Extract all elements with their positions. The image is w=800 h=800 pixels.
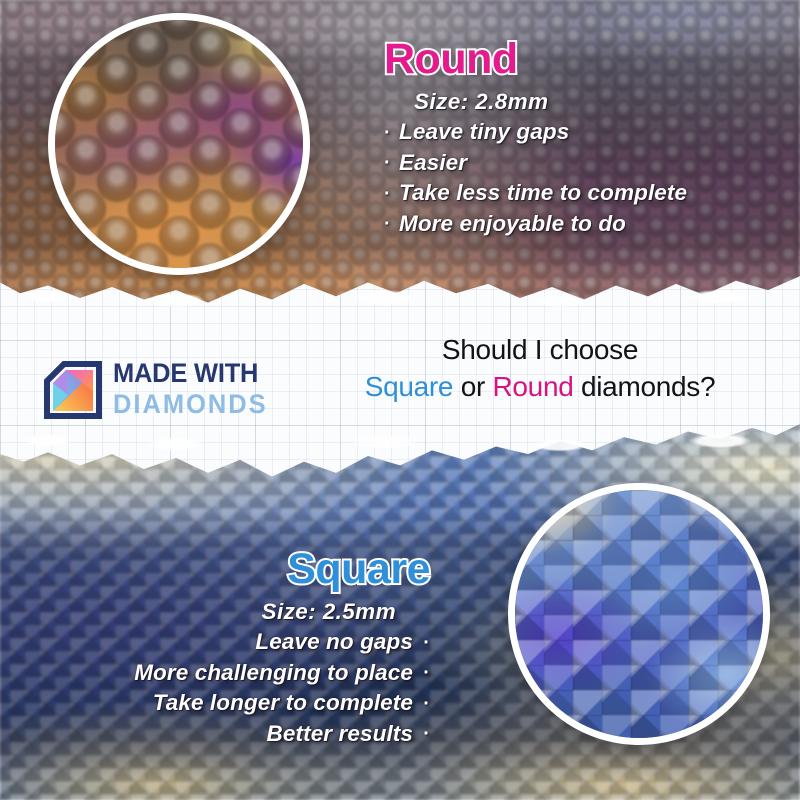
bullet-icon: · — [417, 660, 430, 687]
square-feature-row: Take longer to complete· — [134, 688, 430, 718]
bullet-icon: · — [384, 181, 397, 208]
round-lens-bead-texture-offset — [55, 20, 303, 268]
square-feature-text: Better results — [267, 721, 413, 746]
square-feature-text: More challenging to place — [134, 660, 413, 685]
question-connector: or — [453, 371, 492, 402]
square-drills-magnifier-lens — [508, 483, 770, 745]
square-lens-bead-texture-offset — [515, 490, 763, 738]
brand-logo-text: MADE WITH DIAMONDS — [113, 360, 274, 419]
round-feature-row: ·Leave tiny gaps — [384, 117, 687, 147]
round-feature-text: Easier — [399, 150, 467, 175]
question-line-two: Square or Round diamonds? — [330, 369, 750, 404]
round-feature-text: More enjoyable to do — [399, 211, 626, 236]
round-feature-row: ·More enjoyable to do — [384, 209, 687, 239]
round-feature-text: Leave tiny gaps — [399, 119, 569, 144]
round-size-row: ·Size: 2.8mm — [384, 87, 687, 117]
question-headline: Should I choose Square or Round diamonds… — [330, 332, 750, 405]
question-square-word: Square — [365, 371, 454, 402]
infographic-canvas: Round ·Size: 2.8mm ·Leave tiny gaps ·Eas… — [0, 0, 800, 800]
square-feature-row: Leave no gaps· — [134, 627, 430, 657]
square-feature-row: Better results· — [134, 719, 430, 749]
question-line-one: Should I choose — [442, 334, 638, 365]
brand-line-two: DIAMONDS — [113, 390, 268, 420]
square-heading: Square — [134, 548, 430, 592]
bullet-icon: · — [417, 721, 430, 748]
question-tail: diamonds? — [574, 371, 716, 402]
round-heading: Round — [384, 38, 687, 82]
round-feature-list: ·Size: 2.8mm ·Leave tiny gaps ·Easier ·T… — [384, 87, 687, 239]
round-size-text: Size: 2.8mm — [414, 89, 548, 114]
square-size-text: Size: 2.5mm — [262, 599, 396, 624]
brand-line-one: MADE WITH — [113, 360, 268, 387]
brand-logo: MADE WITH DIAMONDS — [44, 360, 274, 419]
square-info-block: Square Size: 2.5mm· Leave no gaps· More … — [134, 548, 430, 749]
round-feature-text: Take less time to complete — [399, 180, 687, 205]
square-feature-text: Take longer to complete — [153, 690, 413, 715]
diamond-gem-icon — [44, 361, 102, 419]
bullet-icon: · — [384, 150, 397, 177]
question-round-word: Round — [492, 371, 573, 402]
square-size-row: Size: 2.5mm· — [134, 597, 430, 627]
bullet-icon: · — [384, 211, 397, 238]
square-feature-text: Leave no gaps — [255, 629, 413, 654]
round-drills-magnifier-lens — [48, 13, 310, 275]
bullet-icon: · — [417, 630, 430, 657]
square-feature-row: More challenging to place· — [134, 658, 430, 688]
round-info-block: Round ·Size: 2.8mm ·Leave tiny gaps ·Eas… — [384, 38, 687, 239]
square-feature-list: Size: 2.5mm· Leave no gaps· More challen… — [134, 597, 430, 749]
round-feature-row: ·Easier — [384, 148, 687, 178]
bullet-icon: · — [384, 120, 397, 147]
bullet-icon: · — [417, 691, 430, 718]
round-feature-row: ·Take less time to complete — [384, 178, 687, 208]
